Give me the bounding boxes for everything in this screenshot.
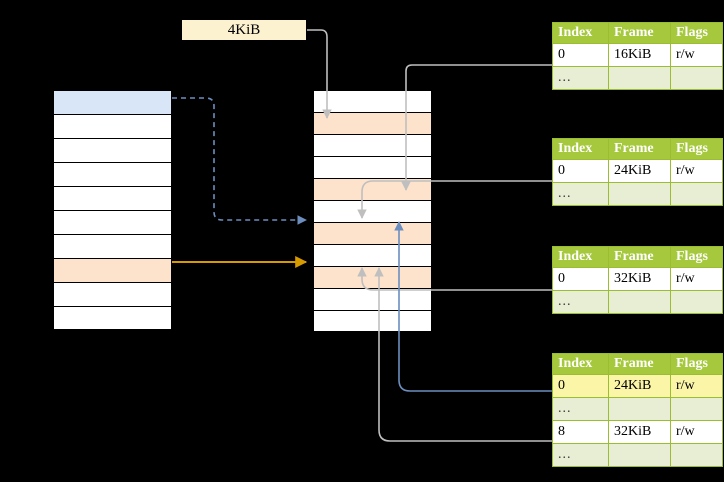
table-header-row: IndexFrameFlags <box>553 23 723 44</box>
cell-index: ... <box>553 398 609 421</box>
size-label-text: 4KiB <box>228 22 261 39</box>
cell-frame: 32KiB <box>609 421 671 444</box>
table-header-row: IndexFrameFlags <box>553 139 723 160</box>
column-header-flags: Flags <box>671 247 723 268</box>
cell-flags: r/w <box>671 268 723 291</box>
virtual-page-cell-0[interactable] <box>53 90 172 114</box>
physical-frame-cell-7[interactable] <box>313 244 432 266</box>
cell-index: ... <box>553 444 609 467</box>
cell-index: 0 <box>553 375 609 398</box>
physical-frame-cell-0[interactable] <box>313 90 432 112</box>
diagram-canvas: 4KiB IndexFrameFlags 016KiBr/w... IndexF… <box>0 0 724 482</box>
column-header-frame: Frame <box>609 23 671 44</box>
physical-frame-cell-6[interactable] <box>313 222 432 244</box>
page-table-4: IndexFrameFlags 024KiBr/w...832KiBr/w... <box>552 353 723 467</box>
cell-index: 0 <box>553 160 609 183</box>
cell-index: 0 <box>553 268 609 291</box>
virtual-page-cell-5[interactable] <box>53 210 172 234</box>
cell-flags <box>671 444 723 467</box>
cell-flags <box>671 291 723 314</box>
cell-frame: 24KiB <box>609 160 671 183</box>
cell-flags <box>671 67 723 90</box>
virtual-page-cell-8[interactable] <box>53 282 172 306</box>
table-row[interactable]: 032KiBr/w <box>553 268 723 291</box>
physical-frame-cell-3[interactable] <box>313 156 432 178</box>
cell-frame <box>609 291 671 314</box>
cell-flags: r/w <box>671 160 723 183</box>
cell-frame <box>609 444 671 467</box>
virtual-page-cell-9[interactable] <box>53 306 172 330</box>
physical-memory-column <box>313 90 432 332</box>
virtual-page-cell-2[interactable] <box>53 138 172 162</box>
cell-flags <box>671 183 723 206</box>
table-header-row: IndexFrameFlags <box>553 247 723 268</box>
table-row-ellipsis[interactable]: ... <box>553 444 723 467</box>
column-header-frame: Frame <box>609 139 671 160</box>
physical-frame-cell-5[interactable] <box>313 200 432 222</box>
table-row[interactable]: 024KiBr/w <box>553 375 723 398</box>
physical-frame-cell-9[interactable] <box>313 288 432 310</box>
table-row-ellipsis[interactable]: ... <box>553 291 723 314</box>
cell-frame <box>609 67 671 90</box>
column-header-frame: Frame <box>609 354 671 375</box>
cell-flags: r/w <box>671 375 723 398</box>
column-header-flags: Flags <box>671 23 723 44</box>
cell-flags <box>671 398 723 421</box>
cell-flags: r/w <box>671 421 723 444</box>
arrow-virtual-page-to-frame <box>172 98 306 220</box>
cell-index: ... <box>553 183 609 206</box>
page-table-1: IndexFrameFlags 016KiBr/w... <box>552 22 723 90</box>
physical-frame-cell-4[interactable] <box>313 178 432 200</box>
page-table-2: IndexFrameFlags 024KiBr/w... <box>552 138 723 206</box>
column-header-index: Index <box>553 139 609 160</box>
virtual-address-space-column <box>53 90 172 330</box>
physical-frame-cell-1[interactable] <box>313 112 432 134</box>
table-row-ellipsis[interactable]: ... <box>553 67 723 90</box>
physical-frame-cell-10[interactable] <box>313 310 432 332</box>
cell-frame: 32KiB <box>609 268 671 291</box>
table-row-ellipsis[interactable]: ... <box>553 183 723 206</box>
virtual-page-cell-3[interactable] <box>53 162 172 186</box>
cell-flags: r/w <box>671 44 723 67</box>
column-header-flags: Flags <box>671 139 723 160</box>
physical-frame-cell-2[interactable] <box>313 134 432 156</box>
cell-frame <box>609 183 671 206</box>
cell-index: ... <box>553 291 609 314</box>
column-header-flags: Flags <box>671 354 723 375</box>
size-label-4kib: 4KiB <box>181 19 307 41</box>
table-row[interactable]: 016KiBr/w <box>553 44 723 67</box>
table-header-row: IndexFrameFlags <box>553 354 723 375</box>
cell-frame: 24KiB <box>609 375 671 398</box>
virtual-page-cell-7[interactable] <box>53 258 172 282</box>
cell-index: 8 <box>553 421 609 444</box>
column-header-index: Index <box>553 247 609 268</box>
virtual-page-cell-1[interactable] <box>53 114 172 138</box>
column-header-index: Index <box>553 354 609 375</box>
virtual-page-cell-4[interactable] <box>53 186 172 210</box>
table-row-ellipsis[interactable]: ... <box>553 398 723 421</box>
table-row[interactable]: 832KiBr/w <box>553 421 723 444</box>
cell-index: 0 <box>553 44 609 67</box>
cell-frame <box>609 398 671 421</box>
cell-frame: 16KiB <box>609 44 671 67</box>
physical-frame-cell-8[interactable] <box>313 266 432 288</box>
page-table-3: IndexFrameFlags 032KiBr/w... <box>552 246 723 314</box>
column-header-frame: Frame <box>609 247 671 268</box>
cell-index: ... <box>553 67 609 90</box>
column-header-index: Index <box>553 23 609 44</box>
virtual-page-cell-6[interactable] <box>53 234 172 258</box>
table-row[interactable]: 024KiBr/w <box>553 160 723 183</box>
